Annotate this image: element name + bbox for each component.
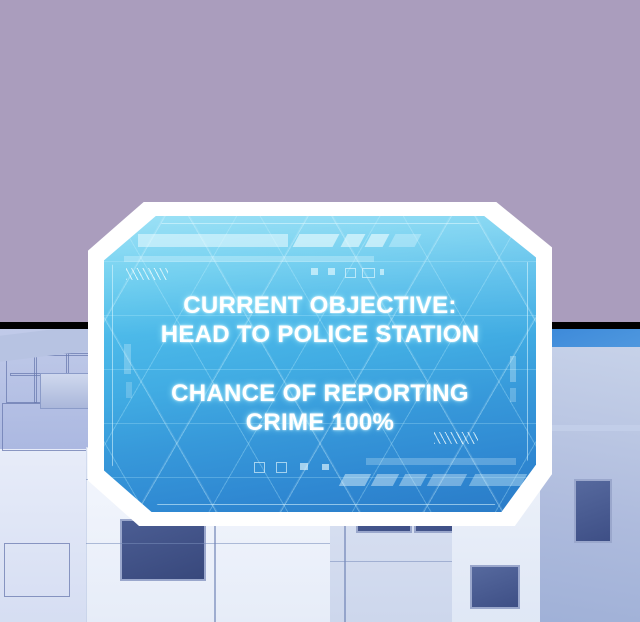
window-center-large: [120, 519, 206, 581]
scaffold-bottom: [4, 543, 70, 597]
facade-line-2: [86, 543, 336, 544]
ledge-right-b: [540, 425, 640, 431]
window-right-2: [574, 479, 612, 543]
panel-surface: CURRENT OBJECTIVE: HEAD TO POLICE STATIO…: [104, 216, 536, 512]
mid-rail: [330, 561, 462, 562]
game-screen: CURRENT OBJECTIVE: HEAD TO POLICE STATIO…: [0, 0, 640, 622]
ac-unit-left: [40, 373, 90, 409]
window-right-1: [470, 565, 520, 609]
objective-hud-panel: CURRENT OBJECTIVE: HEAD TO POLICE STATIO…: [90, 204, 550, 524]
panel-inner-edge: [112, 223, 528, 505]
